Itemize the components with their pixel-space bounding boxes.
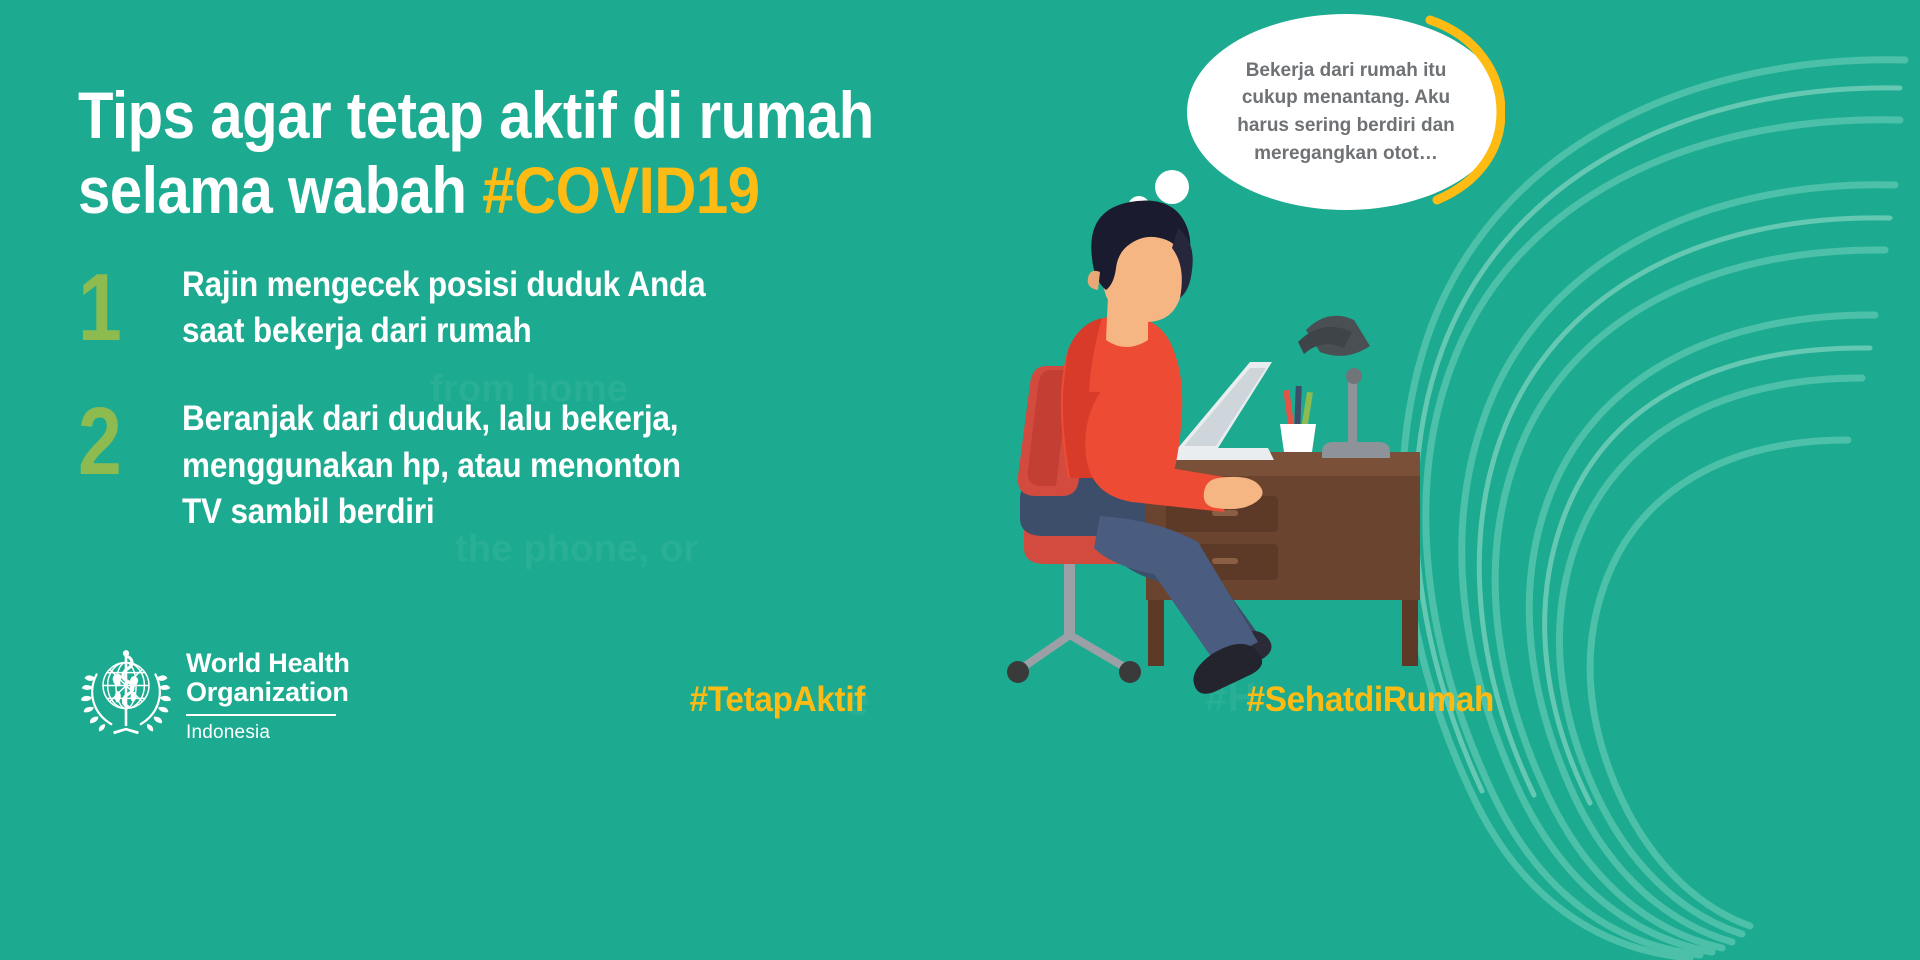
- tip-1-line-1: Rajin mengecek posisi duduk Anda: [182, 262, 705, 308]
- tip-1-line-2: saat bekerja dari rumah: [182, 308, 705, 354]
- tip-number-1: 1: [78, 266, 163, 350]
- headline-line-1: Tips agar tetap aktif di rumah: [78, 78, 958, 153]
- who-logo: World Health Organization Indonesia: [80, 645, 350, 744]
- headline-hashtag-covid19: #COVID19: [482, 153, 759, 227]
- who-covid19-infographic-poster: from home the phone, or e #H Tips agar t…: [0, 0, 1920, 960]
- headline-line-2: selama wabah #COVID19: [78, 153, 958, 228]
- page-title: Tips agar tetap aktif di rumah selama wa…: [78, 78, 958, 228]
- tip-item-1: 1 Rajin mengecek posisi duduk Anda saat …: [78, 262, 838, 354]
- hashtag-tetap-aktif: #TetapAktif: [690, 680, 865, 720]
- person-icon: [1061, 201, 1272, 694]
- tip-text-2: Beranjak dari duduk, lalu bekerja, mengg…: [182, 396, 681, 535]
- tip-number-2: 2: [78, 400, 163, 484]
- person-working-at-desk-illustration: [950, 180, 1470, 700]
- tips-list: 1 Rajin mengecek posisi duduk Anda saat …: [78, 262, 838, 577]
- who-name-line-2: Organization: [186, 678, 350, 707]
- who-country-label: Indonesia: [186, 722, 350, 744]
- who-emblem-icon: [80, 645, 172, 737]
- tip-2-line-3: TV sambil berdiri: [182, 489, 681, 535]
- tip-2-line-1: Beranjak dari duduk, lalu bekerja,: [182, 396, 681, 442]
- tip-2-line-2: menggunakan hp, atau menonton: [182, 443, 681, 489]
- pencil-cup-icon: [1280, 386, 1316, 452]
- tip-text-1: Rajin mengecek posisi duduk Anda saat be…: [182, 262, 705, 354]
- tip-item-2: 2 Beranjak dari duduk, lalu bekerja, men…: [78, 396, 838, 535]
- headline-line-2-plain: selama wabah: [78, 153, 482, 227]
- who-wordmark: World Health Organization Indonesia: [186, 645, 350, 744]
- who-divider: [186, 714, 336, 716]
- who-name-line-1: World Health: [186, 649, 350, 678]
- thought-bubble-text: Bekerja dari rumah itu cukup menantang. …: [1230, 57, 1462, 167]
